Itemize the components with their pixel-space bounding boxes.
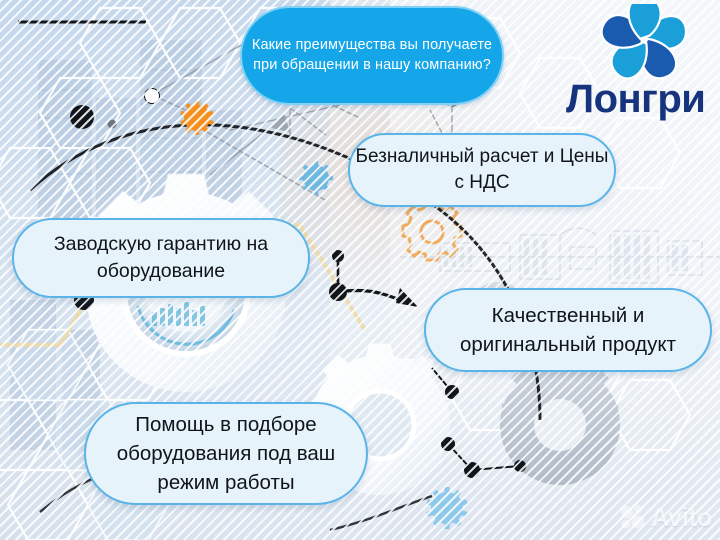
benefit-text-quality: Качественный и оригинальный продукт	[426, 301, 710, 359]
avito-dots-icon	[620, 504, 646, 530]
question-bubble: Какие преимущества вы получаете при обра…	[240, 6, 504, 105]
brand-logo: Лонгри	[566, 4, 720, 122]
orange-gear-outline	[403, 202, 461, 260]
benefit-text-selection: Помощь в подборе оборудования под ваш ре…	[86, 410, 366, 497]
brand-wordmark: Лонгри	[566, 76, 720, 122]
avito-watermark: Avito	[620, 500, 712, 534]
benefit-bubble-selection: Помощь в подборе оборудования под ваш ре…	[84, 402, 368, 505]
benefit-text-warranty: Заводскую гарантию на оборудование	[14, 231, 308, 285]
benefit-text-nds: Безналичный расчет и Цены с НДС	[350, 144, 614, 196]
blue-starburst-small	[299, 161, 333, 195]
lower-curve-2	[330, 496, 432, 530]
avito-watermark-text: Avito	[650, 502, 712, 533]
benefit-bubble-warranty: Заводскую гарантию на оборудование	[12, 218, 310, 298]
poster-canvas: Какие преимущества вы получаете при обра…	[0, 0, 720, 540]
benefit-bubble-nds: Безналичный расчет и Цены с НДС	[348, 133, 616, 207]
question-bubble-text: Какие преимущества вы получаете при обра…	[242, 36, 502, 75]
benefit-bubble-quality: Качественный и оригинальный продукт	[424, 288, 712, 372]
pinwheel-flower-icon	[566, 4, 720, 80]
blue-starburst	[426, 487, 468, 529]
